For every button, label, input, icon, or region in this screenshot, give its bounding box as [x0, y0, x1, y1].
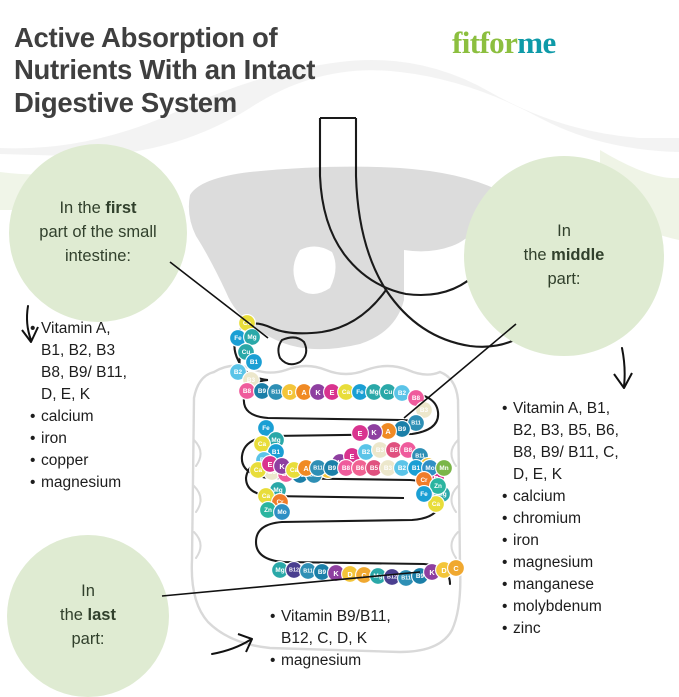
- list-item: Vitamin B9/B11, B12, C, D, K: [270, 606, 450, 650]
- logo-text-teal: me: [517, 25, 555, 60]
- nutrient-bubble-label: Mn: [439, 465, 448, 472]
- nutrient-bubble-label: B2: [398, 390, 407, 397]
- nutrient-bubble: [254, 383, 271, 400]
- nutrient-bubble: [428, 470, 445, 487]
- nutrient-bubble: [230, 330, 247, 347]
- nutrient-bubble: [342, 566, 359, 583]
- nutrient-bubble-label: B1: [250, 359, 259, 366]
- nutrient-bubble-label: K: [279, 462, 285, 471]
- nutrient-bubble: [436, 562, 453, 579]
- nutrient-bubble: [344, 448, 361, 465]
- nutrient-bubble-label: Zn: [434, 483, 442, 490]
- nutrient-bubble: [256, 452, 273, 469]
- nutrient-bubble-label: B12: [387, 575, 397, 581]
- nutrient-bubble: [424, 564, 441, 581]
- nutrient-bubble: [270, 482, 287, 499]
- title-line-2: Nutrients With an Intact: [14, 54, 434, 86]
- nutrient-bubble-label: Mg: [369, 389, 378, 396]
- nutrient-bubble: [408, 390, 425, 407]
- circle-first-line-1: In the: [59, 199, 105, 217]
- nutrient-bubble: [239, 315, 256, 332]
- nutrient-bubble-label: B9: [318, 569, 327, 576]
- duodenum-curve: [234, 290, 386, 380]
- arrow-middle-head: [614, 373, 632, 388]
- circle-first-bold: first: [105, 199, 136, 217]
- nutrient-bubble: [238, 344, 255, 361]
- nutrient-bubble-label: B9: [328, 465, 337, 472]
- nutrient-bubble: [422, 482, 439, 499]
- nutrient-bubble: [380, 460, 397, 477]
- nutrient-bubble: [412, 568, 429, 585]
- nutrient-bubble-label: B3: [268, 469, 277, 476]
- nutrient-bubble-label: B3: [384, 465, 393, 472]
- nutrient-bubble-label: B11: [401, 576, 411, 582]
- circle-middle-line-2: the: [524, 246, 552, 264]
- connector-last: [162, 572, 420, 596]
- nutrient-bubble-label: B2: [398, 465, 407, 472]
- nutrient-list-first-part: Vitamin A, B1, B2, B3 B8, B9/ B11, D, E,…: [30, 318, 195, 494]
- nutrient-bubble: [324, 460, 341, 477]
- nutrient-bubble: [258, 488, 275, 505]
- nutrient-bubble-label: B9: [398, 426, 407, 433]
- nutrient-bubble-label: D: [441, 566, 447, 575]
- nutrient-bubble-label: Mg: [247, 334, 256, 341]
- nutrient-bubble-label: Zn: [264, 507, 272, 514]
- nutrient-bubble: [352, 425, 369, 442]
- nutrient-bubble-label: Fe: [262, 425, 270, 432]
- nutrient-bubble-label: Fe: [234, 335, 242, 342]
- liver-silhouette: [189, 167, 498, 349]
- nutrient-bubble-label: Cu: [242, 349, 251, 356]
- nutrient-bubble-label: E: [434, 474, 439, 483]
- circle-middle-line-3: part:: [547, 270, 580, 288]
- circle-last-line-3: part:: [71, 630, 104, 648]
- nutrient-bubble-label: B3: [420, 407, 429, 414]
- list-item: Vitamin A, B1, B2, B3, B5, B6, B8, B9/ B…: [502, 398, 674, 486]
- nutrient-bubble: [328, 565, 345, 582]
- nutrient-bubble: [262, 456, 279, 473]
- nutrient-bubble-label: Ca: [243, 320, 252, 327]
- list-item: magnesium: [270, 650, 450, 672]
- nutrient-list-last-part: Vitamin B9/B11, B12, C, D, Kmagnesium: [270, 606, 450, 672]
- circle-last-line-1: In: [81, 582, 95, 600]
- nutrient-bubble: [272, 562, 289, 579]
- nutrient-bubble-label: D: [287, 388, 293, 397]
- liver-notch: [293, 246, 335, 294]
- nutrient-bubble: [268, 384, 285, 401]
- nutrient-bubble-label: B3: [376, 447, 385, 454]
- nutrient-bubble-label: Cr: [420, 477, 428, 484]
- nutrient-bubble: [292, 467, 309, 484]
- nutrient-bubble-label: B12: [289, 568, 299, 574]
- nutrient-bubble-label: K: [427, 486, 433, 495]
- infographic-root: CaFeMgCuB1B2B3B8B9B11DAKECaFeMgCuB2B8B3B…: [0, 0, 679, 680]
- nutrient-bubble-label: D: [347, 570, 353, 579]
- list-item: magnesium: [502, 552, 674, 574]
- list-item: calcium: [30, 406, 195, 428]
- nutrient-bubble-label: B3: [247, 377, 256, 384]
- nutrient-bubble-label: B8: [342, 465, 351, 472]
- nutrient-bubble: [394, 421, 411, 438]
- nutrient-bubble: [434, 486, 451, 503]
- nutrient-bubble: [420, 458, 437, 475]
- nutrient-bubble: [282, 384, 299, 401]
- callout-circle-middle-part: In the middle part:: [464, 156, 664, 356]
- nutrient-bubble-label: B9: [258, 388, 267, 395]
- nutrient-bubble: [246, 354, 263, 371]
- nutrient-bubble-label: D: [425, 462, 431, 471]
- circle-last-line-2: the: [60, 606, 88, 624]
- nutrient-bubble-label: B6: [356, 465, 365, 472]
- nutrient-bubble: [416, 472, 433, 489]
- callout-circle-first-part: In the first part of the small intestine…: [9, 144, 187, 322]
- nutrient-bubble: [416, 468, 433, 485]
- list-item: Vitamin A, B1, B2, B3 B8, B9/ B11, D, E,…: [30, 318, 195, 406]
- nutrient-bubble: [314, 564, 331, 581]
- nutrient-bubble-label: B9: [416, 573, 425, 580]
- nutrient-bubble: [310, 460, 327, 477]
- circle-middle-bold: middle: [551, 246, 604, 264]
- connector-middle: [404, 324, 516, 418]
- nutrient-bubble-label: K: [429, 568, 435, 577]
- nutrient-bubble-label: B5: [370, 465, 379, 472]
- nutrient-bubble-label: Mg: [275, 567, 284, 574]
- small-intestine-coils: [239, 356, 450, 584]
- nutrient-bubble-label: B11: [271, 390, 281, 396]
- nutrient-bubble: [272, 494, 289, 511]
- nutrient-bubble: [332, 454, 349, 471]
- nutrient-bubble-label: E: [350, 452, 355, 461]
- nutrient-bubble: [370, 568, 387, 585]
- nutrient-bubble-label: Ca: [262, 493, 271, 500]
- nutrient-bubble: [398, 570, 415, 587]
- arrow-last-head: [238, 634, 252, 652]
- nutrient-bubble: [250, 462, 267, 479]
- circle-first-line-2: part of the small: [39, 223, 156, 241]
- nutrient-bubble: [366, 424, 383, 441]
- circle-first-line-3: intestine:: [65, 247, 131, 265]
- nutrient-bubble: [338, 384, 355, 401]
- list-item: iron: [30, 428, 195, 450]
- nutrient-bubble: [306, 467, 323, 484]
- nutrient-bubble-label: Mg: [437, 491, 446, 498]
- nutrient-bubble: [366, 460, 383, 477]
- nutrient-bubble: [274, 458, 291, 475]
- nutrient-bubble-label: B2: [260, 457, 269, 464]
- nutrient-bubble: [422, 460, 439, 477]
- nutrient-bubble-label: B5: [390, 447, 399, 454]
- nutrient-bubble-label: B11: [309, 473, 319, 479]
- small-intestine-loop-1: [244, 380, 426, 420]
- nutrient-bubble-label: B8: [243, 388, 252, 395]
- nutrient-bubble-label: Mo: [277, 509, 286, 516]
- list-item: molybdenum: [502, 596, 674, 618]
- title-line-1: Active Absorption of: [14, 22, 434, 54]
- nutrient-bubble-label: B2: [362, 449, 371, 456]
- nutrient-bubble-label: Fe: [420, 491, 428, 498]
- nutrient-bubble-label: K: [333, 569, 339, 578]
- nutrient-bubble-label: B1: [272, 449, 281, 456]
- nutrient-bubble-label: A: [421, 472, 427, 481]
- circle-last-bold: last: [88, 606, 116, 624]
- nutrient-bubble-label: Ca: [432, 501, 441, 508]
- nutrient-bubble: [366, 384, 383, 401]
- nutrient-bubble: [286, 562, 303, 579]
- nutrient-bubble-label: B1: [412, 465, 421, 472]
- nutrient-bubble-label: D: [325, 466, 331, 475]
- nutrient-bubble-label: B11: [303, 569, 313, 575]
- nutrient-bubble: [416, 486, 433, 503]
- nutrient-bubble: [264, 464, 281, 481]
- transverse-colon-outline: [214, 366, 440, 375]
- nutrient-bubble-label: Ca: [342, 389, 351, 396]
- nutrient-bubble-label: Ca: [290, 467, 299, 474]
- nutrient-bubble: [372, 442, 389, 459]
- nutrient-bubble: [394, 385, 411, 402]
- nutrient-bubble-label: Cu: [384, 389, 393, 396]
- nutrient-bubble: [436, 460, 453, 477]
- nutrient-bubble-label: B8: [282, 471, 291, 478]
- nutrient-bubble: [380, 384, 397, 401]
- callout-circle-last-part: In the last part:: [7, 535, 169, 697]
- nutrient-bubble-label: Ca: [258, 441, 267, 448]
- fitforme-logo: fitforme: [452, 27, 556, 58]
- nutrient-bubble: [260, 502, 277, 519]
- nutrient-bubble: [400, 442, 417, 459]
- nutrient-bubble: [254, 436, 271, 453]
- title-line-3: Digestive System: [14, 87, 434, 119]
- nutrient-bubble: [352, 460, 369, 477]
- nutrient-bubble: [416, 402, 433, 419]
- nutrient-bubble-label: E: [358, 429, 363, 438]
- nutrient-bubble-label: B11: [411, 421, 421, 427]
- nutrient-bubble-label: C: [361, 571, 367, 580]
- nutrient-bubble-label: Mg: [271, 437, 280, 444]
- nutrient-bubble-label: B9: [296, 472, 305, 479]
- nutrient-bubble: [310, 384, 327, 401]
- nutrient-bubble: [358, 444, 375, 461]
- nutrient-bubble-label: K: [371, 428, 377, 437]
- nutrient-bubble: [258, 420, 275, 437]
- nutrient-bubble: [386, 442, 403, 459]
- nutrient-bubble: [268, 432, 285, 449]
- nutrient-bubble-label: C: [453, 564, 459, 573]
- nutrient-bubble: [408, 415, 425, 432]
- colon-haustra: [194, 440, 458, 558]
- list-item: zinc: [502, 618, 674, 640]
- nutrient-bubble-label: B11: [415, 454, 425, 460]
- nutrient-bubble: [300, 563, 317, 580]
- nutrient-bubble-label: Fe: [356, 389, 364, 396]
- nutrient-bubble: [230, 364, 247, 381]
- nutrient-bubble: [428, 496, 445, 513]
- nutrient-bubble-label: E: [330, 388, 335, 397]
- nutrient-bubble: [278, 466, 295, 483]
- nutrient-bubble: [380, 423, 397, 440]
- nutrient-bubble: [448, 560, 465, 577]
- nutrient-bubble: [296, 384, 313, 401]
- nutrient-bubble-label: A: [385, 427, 391, 436]
- nutrient-bubble: [408, 460, 425, 477]
- nutrient-bubble-label: Mo: [425, 465, 434, 472]
- nutrient-list-middle-part: Vitamin A, B1, B2, B3, B5, B6, B8, B9/ B…: [502, 398, 674, 640]
- nutrient-bubble-label: K: [337, 458, 343, 467]
- wave-top-right: [520, 0, 679, 150]
- nutrient-bubble: [239, 383, 256, 400]
- nutrient-bubble: [430, 478, 447, 495]
- logo-text-green: fitfor: [452, 25, 517, 60]
- nutrient-bubble: [394, 460, 411, 477]
- circle-middle-line-1: In: [557, 222, 571, 240]
- nutrient-bubble-label: Ca: [254, 467, 263, 474]
- nutrient-bubble-label: B8: [404, 447, 413, 454]
- nutrient-bubble-label: Mg: [273, 487, 282, 494]
- nutrient-bubble: [244, 329, 261, 346]
- nutrient-bubble: [320, 462, 337, 479]
- nutrient-bubble: [338, 460, 355, 477]
- nutrient-bubble: [352, 384, 369, 401]
- nutrient-bubble-label: E: [268, 460, 273, 469]
- bubble-group: CaFeMgCuB1B2B3B8B9B11DAKECaFeMgCuB2B8B3B…: [230, 315, 465, 587]
- nutrient-bubble-label: A: [303, 464, 309, 473]
- nutrient-bubble: [356, 567, 373, 584]
- nutrient-bubble-label: B8: [412, 395, 421, 402]
- nutrient-bubble: [298, 460, 315, 477]
- nutrient-bubble-label: B2: [234, 369, 243, 376]
- nutrient-bubble-label: Mg: [373, 573, 382, 580]
- list-item: magnesium: [30, 472, 195, 494]
- arrow-last-shaft: [212, 640, 250, 654]
- nutrient-bubble: [286, 462, 303, 479]
- nutrient-bubble: [243, 372, 260, 389]
- list-item: manganese: [502, 574, 674, 596]
- list-item: copper: [30, 450, 195, 472]
- arrow-middle-shaft: [622, 348, 625, 386]
- list-item: chromium: [502, 508, 674, 530]
- nutrient-bubble: [384, 569, 401, 586]
- nutrient-bubble: [274, 504, 291, 521]
- list-item: calcium: [502, 486, 674, 508]
- list-item: iron: [502, 530, 674, 552]
- nutrient-bubble-label: Cr: [276, 499, 284, 506]
- nutrient-bubble: [268, 444, 285, 461]
- small-intestine-loop-2: [246, 460, 404, 498]
- nutrient-bubble: [324, 384, 341, 401]
- nutrient-bubble-label: A: [301, 388, 307, 397]
- nutrient-bubble: [412, 448, 429, 465]
- pylorus-ring: [278, 337, 306, 364]
- page-title: Active Absorption of Nutrients With an I…: [14, 22, 434, 119]
- nutrient-bubble-label: B11: [313, 466, 323, 472]
- nutrient-bubble-label: K: [315, 388, 321, 397]
